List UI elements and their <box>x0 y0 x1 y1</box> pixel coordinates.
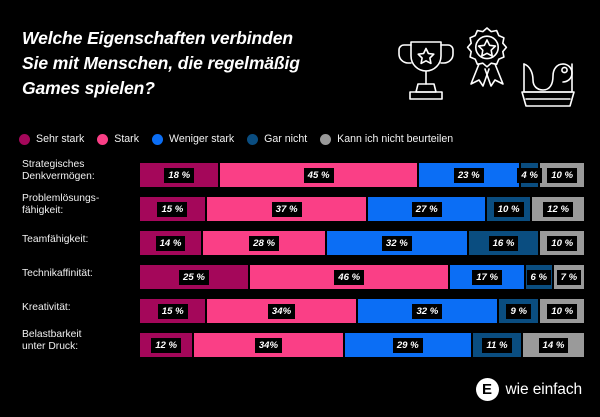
category-label: Problemlösungs-fähigkeit: <box>22 193 134 218</box>
bar-segment-value-label: 46 % <box>334 270 364 285</box>
bar-segment-value-label: 9 % <box>506 304 531 319</box>
legend-item-gar-nicht[interactable]: Gar nicht <box>247 133 307 145</box>
category-label-line: Belastbarkeit <box>22 329 134 341</box>
chart-row: Technikaffinität:25 %46 %17 %6 %7 % <box>0 262 600 296</box>
bar-segment-value-label: 15 % <box>157 202 187 217</box>
bar-segment-value-label: 17 % <box>472 270 502 285</box>
category-label-line: Teamfähigkeit: <box>22 234 134 246</box>
legend-color-swatch-icon <box>97 134 108 145</box>
bar-segment[interactable]: 11 % <box>473 333 521 357</box>
bar-segment[interactable]: 10 % <box>540 299 584 323</box>
chart-row: Problemlösungs-fähigkeit:15 %37 %27 %10 … <box>0 194 600 228</box>
bar-segment[interactable]: 32 % <box>358 299 498 323</box>
category-label: Teamfähigkeit: <box>22 234 134 246</box>
bar-segment[interactable]: 10 % <box>540 163 584 187</box>
bar-segment-value-label: 10 % <box>494 202 524 217</box>
legend-color-swatch-icon <box>247 134 258 145</box>
page-title: Welche Eigenschaften verbinden Sie mit M… <box>22 26 392 101</box>
bar-segment[interactable]: 6 % <box>526 265 552 289</box>
page-title-line-1: Welche Eigenschaften verbinden <box>22 26 392 51</box>
bar-segment[interactable]: 14 % <box>523 333 584 357</box>
category-label-line: Technikaffinität: <box>22 268 134 280</box>
legend-color-swatch-icon <box>19 134 30 145</box>
bar-track: 15 %34%32 %9 %10 % <box>140 299 584 323</box>
bar-segment[interactable]: 15 % <box>140 299 205 323</box>
bar-segment[interactable]: 32 % <box>327 231 467 255</box>
bar-segment-value-label: 27 % <box>412 202 442 217</box>
bar-segment-value-label: 16 % <box>489 236 519 251</box>
bar-segment[interactable]: 17 % <box>450 265 523 289</box>
category-label: Technikaffinität: <box>22 268 134 280</box>
brand-name: wie einfach <box>506 381 582 399</box>
bar-segment-value-label: 25 % <box>179 270 209 285</box>
category-label: Belastbarkeitunter Druck: <box>22 329 134 354</box>
legend-color-swatch-icon <box>320 134 331 145</box>
bar-segment-value-label: 4 % <box>517 168 542 183</box>
bar-track: 25 %46 %17 %6 %7 % <box>140 265 584 289</box>
legend-item-weniger-stark[interactable]: Weniger stark <box>152 133 234 145</box>
bar-segment-value-label: 18 % <box>164 168 194 183</box>
brand-mark-icon: E <box>476 378 499 401</box>
bar-segment-value-label: 15 % <box>158 304 188 319</box>
bar-segment-value-label: 32 % <box>382 236 412 251</box>
bar-segment[interactable]: 14 % <box>140 231 201 255</box>
bar-segment[interactable]: 45 % <box>220 163 416 187</box>
category-label-line: Denkvermögen: <box>22 171 134 183</box>
bar-segment-value-label: 14 % <box>156 236 186 251</box>
legend-label: Stark <box>114 133 139 145</box>
bar-segment-value-label: 7 % <box>557 270 582 285</box>
category-label-line: Problemlösungs- <box>22 193 134 205</box>
bar-segment-value-label: 32 % <box>412 304 442 319</box>
bar-segment[interactable]: 27 % <box>368 197 485 221</box>
bar-segment[interactable]: 28 % <box>203 231 325 255</box>
bar-segment[interactable]: 37 % <box>207 197 367 221</box>
bar-segment-value-label: 45 % <box>304 168 334 183</box>
bar-segment[interactable]: 12 % <box>532 197 584 221</box>
bar-segment-value-label: 12 % <box>151 338 181 353</box>
bar-segment-value-label: 29 % <box>393 338 423 353</box>
bar-segment-value-label: 23 % <box>454 168 484 183</box>
bar-segment-value-label: 6 % <box>527 270 552 285</box>
bar-segment[interactable]: 29 % <box>345 333 471 357</box>
legend-label: Sehr stark <box>36 133 84 145</box>
page-title-line-2: Sie mit Menschen, die regelmäßig <box>22 51 392 76</box>
chart-legend: Sehr stark Stark Weniger stark Gar nicht… <box>19 131 453 147</box>
chart-row: StrategischesDenkvermögen:18 %45 %23 %4 … <box>0 160 600 194</box>
legend-color-swatch-icon <box>152 134 163 145</box>
bar-segment-value-label: 10 % <box>547 304 577 319</box>
bar-segment-value-label: 14 % <box>539 338 569 353</box>
bar-segment[interactable]: 25 % <box>140 265 248 289</box>
category-label-line: fähigkeit: <box>22 205 134 217</box>
bar-segment[interactable]: 15 % <box>140 197 205 221</box>
stacked-bar-chart: StrategischesDenkvermögen:18 %45 %23 %4 … <box>0 160 600 364</box>
chart-row: Kreativität:15 %34%32 %9 %10 % <box>0 296 600 330</box>
bar-segment[interactable]: 7 % <box>554 265 584 289</box>
bar-segment[interactable]: 18 % <box>140 163 218 187</box>
legend-item-stark[interactable]: Stark <box>97 133 139 145</box>
legend-label: Weniger stark <box>169 133 234 145</box>
legend-item-kann-ich-nicht-beurteilen[interactable]: Kann ich nicht beurteilen <box>320 133 453 145</box>
trophy-icon <box>398 36 454 106</box>
bar-track: 14 %28 %32 %16 %10 % <box>140 231 584 255</box>
bar-segment[interactable]: 23 % <box>419 163 519 187</box>
bar-segment[interactable]: 10 % <box>487 197 530 221</box>
bar-segment[interactable]: 34% <box>194 333 342 357</box>
bar-segment-value-label: 12 % <box>543 202 573 217</box>
bar-segment-value-label: 34% <box>255 338 282 353</box>
crown-icon <box>520 56 576 110</box>
legend-label: Gar nicht <box>264 133 307 145</box>
bar-segment-value-label: 10 % <box>547 236 577 251</box>
bar-segment[interactable]: 16 % <box>469 231 539 255</box>
page-title-line-3: Games spielen? <box>22 76 392 101</box>
category-label: Kreativität: <box>22 302 134 314</box>
brand-logo: E wie einfach <box>476 378 582 401</box>
bar-segment[interactable]: 12 % <box>140 333 192 357</box>
bar-segment[interactable]: 34% <box>207 299 355 323</box>
category-label-line: Strategisches <box>22 159 134 171</box>
bar-segment-value-label: 11 % <box>482 338 511 353</box>
bar-segment-value-label: 28 % <box>249 236 279 251</box>
bar-segment-value-label: 37 % <box>272 202 302 217</box>
bar-segment[interactable]: 9 % <box>499 299 538 323</box>
category-label-line: unter Druck: <box>22 341 134 353</box>
award-medal-icon <box>460 26 514 94</box>
bar-segment[interactable]: 46 % <box>250 265 449 289</box>
bar-track: 12 %34%29 %11 %14 % <box>140 333 584 357</box>
decorative-icon-group <box>392 24 582 114</box>
legend-item-sehr-stark[interactable]: Sehr stark <box>19 133 84 145</box>
bar-track: 18 %45 %23 %4 %10 % <box>140 163 584 187</box>
bar-segment[interactable]: 10 % <box>540 231 584 255</box>
bar-segment-value-label: 10 % <box>547 168 577 183</box>
legend-label: Kann ich nicht beurteilen <box>337 133 453 145</box>
bar-track: 15 %37 %27 %10 %12 % <box>140 197 584 221</box>
chart-row: Belastbarkeitunter Druck:12 %34%29 %11 %… <box>0 330 600 364</box>
chart-row: Teamfähigkeit:14 %28 %32 %16 %10 % <box>0 228 600 262</box>
bar-segment[interactable]: 4 % <box>521 163 538 187</box>
category-label: StrategischesDenkvermögen: <box>22 159 134 184</box>
category-label-line: Kreativität: <box>22 302 134 314</box>
bar-segment-value-label: 34% <box>268 304 295 319</box>
